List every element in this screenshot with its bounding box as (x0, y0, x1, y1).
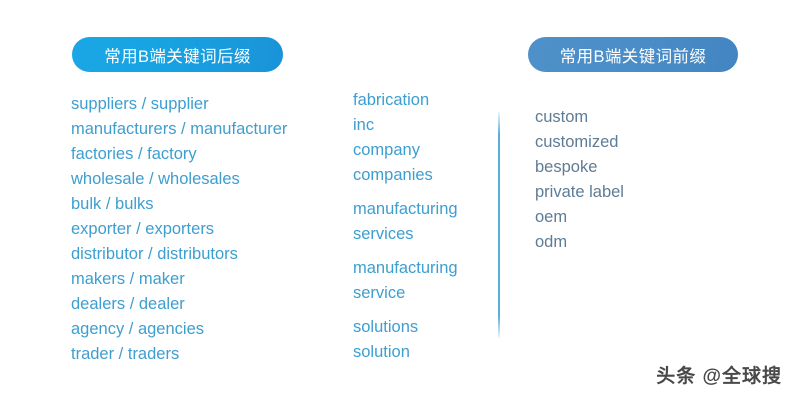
list-item: oem (535, 205, 624, 230)
list-item: private label (535, 180, 624, 205)
list-item: manufacturers / manufacturer (71, 117, 287, 142)
list-item: customized (535, 130, 624, 155)
list-item: manufacturing (353, 197, 458, 222)
list-item: inc (353, 113, 458, 138)
badge-keyword-prefix-label: 常用B端关键词前缀 (560, 43, 707, 67)
list-item: companies (353, 163, 458, 188)
suffix-keyword-list-secondary: fabrication inc company companies manufa… (353, 88, 458, 365)
list-item: bespoke (535, 155, 624, 180)
list-item: exporter / exporters (71, 217, 287, 242)
column-divider (498, 112, 500, 338)
list-item: agency / agencies (71, 317, 287, 342)
watermark: 头条 @全球搜 (656, 361, 782, 388)
list-item: service (353, 281, 458, 306)
list-item: solutions (353, 315, 458, 340)
list-item: fabrication (353, 88, 458, 113)
list-item: services (353, 222, 458, 247)
list-item: wholesale / wholesales (71, 167, 287, 192)
list-item: dealers / dealer (71, 292, 287, 317)
list-item: bulk / bulks (71, 192, 287, 217)
badge-keyword-suffix: 常用B端关键词后缀 (72, 37, 283, 72)
suffix-keyword-list-primary: suppliers / supplier manufacturers / man… (71, 92, 287, 367)
prefix-keyword-list: custom customized bespoke private label … (535, 105, 624, 255)
list-item: makers / maker (71, 267, 287, 292)
list-item: manufacturing (353, 256, 458, 281)
slide-canvas: 常用B端关键词后缀 常用B端关键词前缀 suppliers / supplier… (0, 0, 800, 400)
list-item: factories / factory (71, 142, 287, 167)
list-item: odm (535, 230, 624, 255)
list-item: solution (353, 340, 458, 365)
list-item: distributor / distributors (71, 242, 287, 267)
list-item: custom (535, 105, 624, 130)
list-item: trader / traders (71, 342, 287, 367)
badge-keyword-suffix-label: 常用B端关键词后缀 (104, 43, 251, 67)
list-item: suppliers / supplier (71, 92, 287, 117)
badge-keyword-prefix: 常用B端关键词前缀 (528, 37, 738, 72)
list-item: company (353, 138, 458, 163)
